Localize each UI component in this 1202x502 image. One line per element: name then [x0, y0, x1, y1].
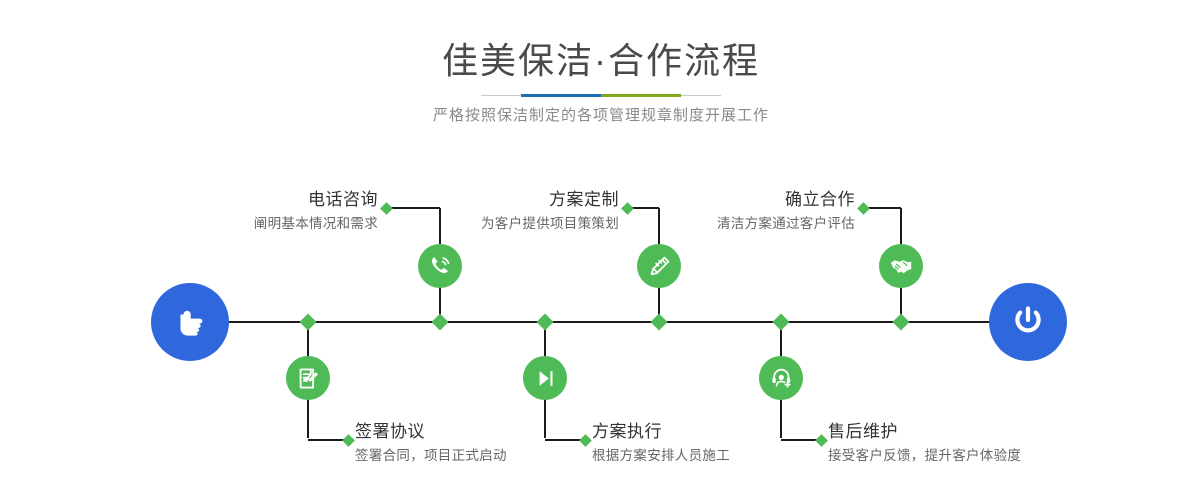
timeline-marker-diamond — [651, 314, 668, 331]
timeline-marker-diamond — [537, 314, 554, 331]
node-label-title: 方案定制 — [481, 188, 619, 212]
flow-start-node[interactable] — [151, 283, 229, 361]
label-leader-dot — [380, 202, 393, 215]
title-divider — [481, 94, 721, 97]
document-edit-icon — [296, 366, 321, 391]
node-label: 方案定制 为客户提供项目策策划 — [481, 188, 619, 235]
flow-end-node[interactable] — [989, 283, 1067, 361]
timeline-marker-diamond — [432, 314, 449, 331]
divider-segment-green — [601, 94, 681, 97]
timeline-marker-diamond — [893, 314, 910, 331]
node-label-desc: 签署合同，项目正式启动 — [355, 445, 507, 467]
node-icon-badge[interactable] — [418, 244, 462, 288]
customer-service-icon — [769, 366, 794, 391]
page-subtitle: 严格按照保洁制定的各项管理规章制度开展工作 — [0, 105, 1202, 127]
node-label: 售后维护 接受客户反馈，提升客户体验度 — [828, 420, 1021, 467]
timeline-marker-diamond — [773, 314, 790, 331]
node-label: 确立合作 清洁方案通过客户评估 — [717, 188, 855, 235]
node-label-title: 方案执行 — [592, 420, 730, 444]
node-label: 签署协议 签署合同，项目正式启动 — [355, 420, 507, 467]
label-leader-line — [386, 207, 440, 209]
node-label-desc: 阐明基本情况和需求 — [254, 213, 378, 235]
node-label-title: 签署协议 — [355, 420, 507, 444]
pointing-hand-icon — [170, 302, 210, 342]
power-icon — [1007, 301, 1049, 343]
node-icon-badge[interactable] — [879, 244, 923, 288]
page-title: 佳美保洁·合作流程 — [0, 38, 1202, 84]
divider-segment-blue — [521, 94, 601, 97]
node-label-desc: 接受客户反馈，提升客户体验度 — [828, 445, 1021, 467]
label-leader-dot — [621, 202, 634, 215]
play-execute-icon — [533, 366, 558, 391]
label-leader-dot — [579, 434, 592, 447]
page-header: 佳美保洁·合作流程 严格按照保洁制定的各项管理规章制度开展工作 — [0, 0, 1202, 150]
node-label: 电话咨询 阐明基本情况和需求 — [254, 188, 378, 235]
label-leader-dot — [815, 434, 828, 447]
flowchart-page: 佳美保洁·合作流程 严格按照保洁制定的各项管理规章制度开展工作 — [0, 0, 1202, 502]
node-icon-badge[interactable] — [523, 356, 567, 400]
node-label-desc: 根据方案安排人员施工 — [592, 445, 730, 467]
label-leader-dot — [342, 434, 355, 447]
node-label-desc: 为客户提供项目策策划 — [481, 213, 619, 235]
node-icon-badge[interactable] — [759, 356, 803, 400]
label-leader-dot — [857, 202, 870, 215]
node-label-title: 确立合作 — [717, 188, 855, 212]
process-flow-diagram: 电话咨询 阐明基本情况和需求 签署协议 — [0, 150, 1202, 502]
node-label: 方案执行 根据方案安排人员施工 — [592, 420, 730, 467]
handshake-icon — [888, 253, 914, 279]
node-label-title: 售后维护 — [828, 420, 1021, 444]
phone-call-icon — [427, 253, 453, 279]
pencil-design-icon — [647, 254, 672, 279]
node-icon-badge[interactable] — [286, 356, 330, 400]
timeline-marker-diamond — [300, 314, 317, 331]
node-label-title: 电话咨询 — [254, 188, 378, 212]
node-label-desc: 清洁方案通过客户评估 — [717, 213, 855, 235]
node-icon-badge[interactable] — [637, 244, 681, 288]
